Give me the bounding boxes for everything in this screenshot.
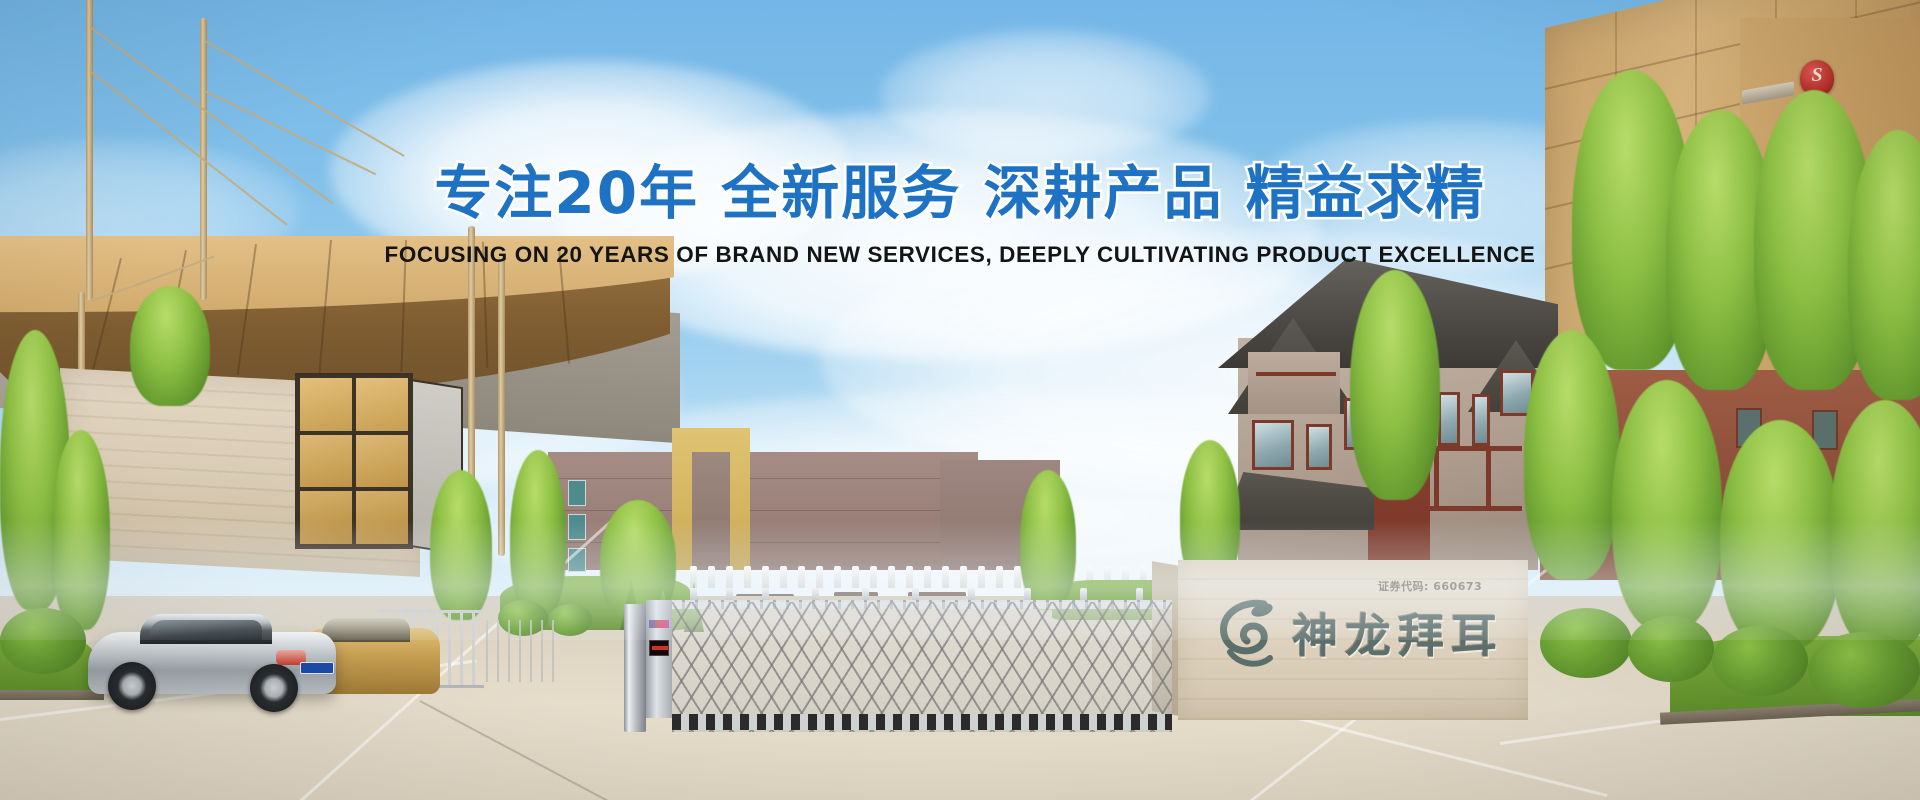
gate-controller[interactable] <box>646 600 672 718</box>
building-portal-recess <box>692 452 730 570</box>
tudor-timber-beam <box>1256 372 1336 376</box>
fence-picket <box>996 566 1003 588</box>
gate-bottom-rail <box>672 714 1172 730</box>
building-window <box>568 480 586 506</box>
round-shrub <box>1808 632 1920 708</box>
tudor-window <box>1472 394 1490 446</box>
gate-pillar-gold-panels <box>295 373 413 549</box>
gate-post <box>624 604 646 732</box>
fence-picket <box>780 566 787 588</box>
fence-picket <box>834 566 841 588</box>
car-wheel <box>108 662 156 710</box>
dragon-swirl-logo-icon <box>1212 594 1286 672</box>
tree <box>1612 380 1722 630</box>
tree <box>1524 330 1620 580</box>
sedan-window <box>150 620 262 640</box>
company-name-sign: 神龙拜耳 <box>1292 600 1504 666</box>
tudor-window <box>1306 424 1332 470</box>
canopy-mast <box>498 256 505 556</box>
gate-warning-lamp-icon <box>649 620 669 628</box>
fence-picket <box>978 566 985 588</box>
gold-car-window <box>322 618 410 642</box>
building-window <box>568 514 586 540</box>
gate-led-display <box>649 640 669 656</box>
metal-railing <box>486 620 556 682</box>
company-hero-banner: 证券代码: 660673 神龙拜耳 专注20年 全新服务 深耕产品 精益求精 F… <box>0 0 1920 800</box>
hero-text-block: 专注20年 全新服务 深耕产品 精益求精 FOCUSING ON 20 YEAR… <box>0 146 1920 268</box>
tudor-timber-beam <box>1430 446 1522 451</box>
tree <box>1720 420 1840 650</box>
fence-picket <box>726 566 733 588</box>
round-shrub <box>1712 626 1808 696</box>
tree <box>510 450 566 620</box>
tudor-gable-face <box>1248 352 1340 414</box>
headline-english: FOCUSING ON 20 YEARS OF BRAND NEW SERVIC… <box>0 242 1920 268</box>
tree <box>430 470 492 620</box>
fence-picket <box>798 566 805 588</box>
fence-picket <box>762 566 769 588</box>
fence-picket <box>942 566 949 588</box>
fence-picket <box>708 566 715 588</box>
tree <box>52 430 110 630</box>
kerb-left <box>0 690 104 700</box>
tree <box>130 286 210 406</box>
round-shrub <box>1628 616 1714 682</box>
fence-picket <box>888 566 895 588</box>
tudor-window <box>1438 392 1460 446</box>
stock-code-label: 证券代码: 660673 <box>1378 578 1482 594</box>
round-shrub <box>1540 608 1632 678</box>
retractable-gate[interactable] <box>672 602 1172 732</box>
fence-picket <box>870 566 877 588</box>
tudor-window <box>1252 420 1294 470</box>
tree <box>1350 270 1440 500</box>
fence-picket <box>744 566 751 588</box>
fence-picket <box>960 566 967 588</box>
tudor-timber-beam <box>1486 446 1491 510</box>
fence-picket <box>906 566 913 588</box>
fence-picket <box>852 566 859 588</box>
round-shrub <box>0 608 86 674</box>
headline-chinese: 专注20年 全新服务 深耕产品 精益求精 <box>0 146 1920 230</box>
car-wheel <box>250 664 298 712</box>
license-plate <box>300 662 334 674</box>
tudor-timber-beam <box>1430 506 1522 511</box>
fence-picket <box>924 566 931 588</box>
fence-picket <box>816 566 823 588</box>
